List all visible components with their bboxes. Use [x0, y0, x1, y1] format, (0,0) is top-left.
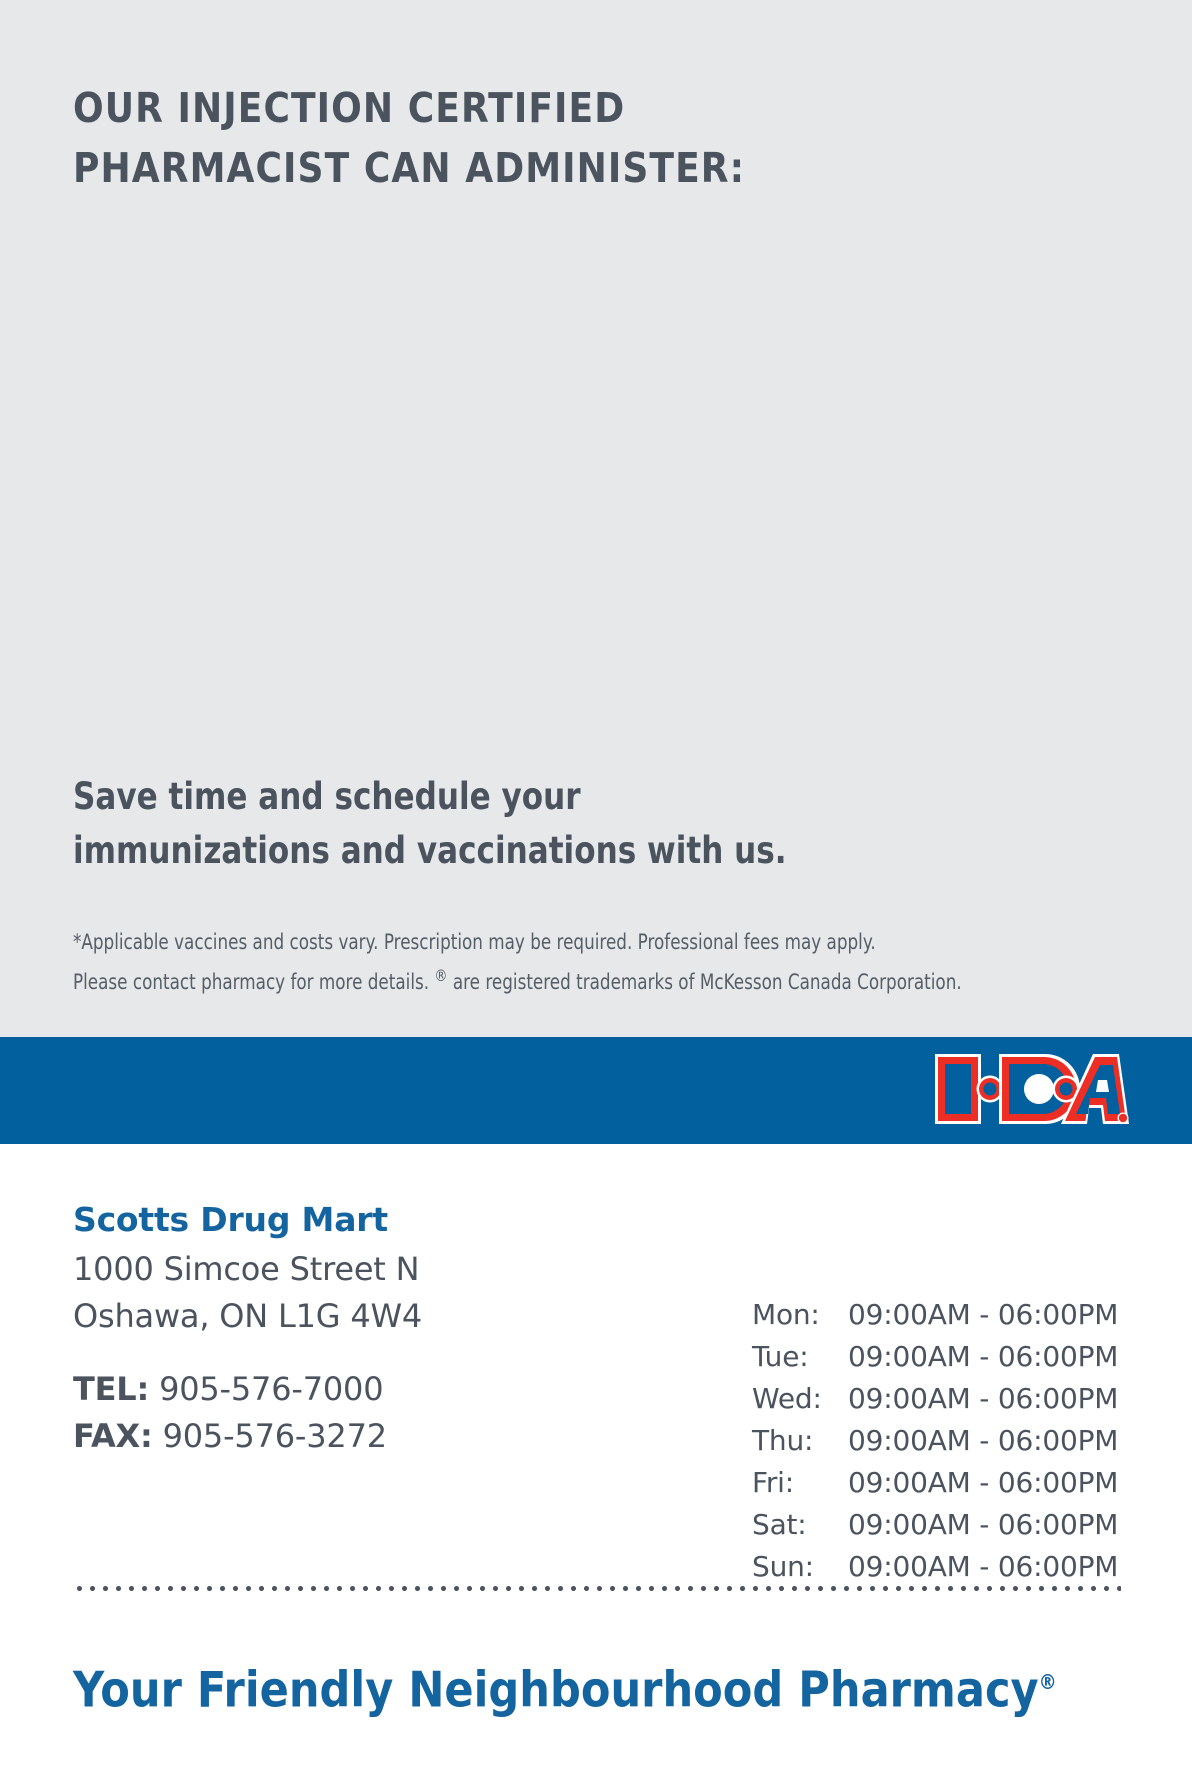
hours-row: Sun: 09:00AM - 06:00PM	[752, 1546, 1142, 1588]
store-telephone-label: TEL:	[73, 1370, 149, 1408]
hours-time-value: 09:00AM - 06:00PM	[848, 1336, 1142, 1378]
hours-day-label: Fri:	[752, 1462, 848, 1504]
hours-row: Thu: 09:00AM - 06:00PM	[752, 1420, 1142, 1462]
hours-day-label: Sat:	[752, 1504, 848, 1546]
hours-row: Tue: 09:00AM - 06:00PM	[752, 1336, 1142, 1378]
footer-tagline: Your Friendly Neighbourhood Pharmacy®	[73, 1647, 1023, 1725]
store-hours-table: Mon: 09:00AM - 06:00PM Tue: 09:00AM - 06…	[752, 1294, 1142, 1588]
hours-time-value: 09:00AM - 06:00PM	[848, 1294, 1142, 1336]
page-title-line-2: PHARMACIST CAN ADMINISTER:	[73, 138, 865, 198]
top-grey-panel: OUR INJECTION CERTIFIED PHARMACIST CAN A…	[0, 0, 1192, 1037]
hours-time-value: 09:00AM - 06:00PM	[848, 1462, 1142, 1504]
hours-time-value: 09:00AM - 06:00PM	[848, 1378, 1142, 1420]
store-fax-row: FAX: 905-576-3272	[73, 1413, 633, 1460]
disclaimer-line-2-part-a: Please contact pharmacy for more details…	[73, 970, 434, 994]
registered-mark-symbol: ®	[1039, 1670, 1057, 1694]
subheading-line-2: immunizations and vaccinations with us.	[73, 824, 829, 878]
store-details: Scotts Drug Mart 1000 Simcoe Street N Os…	[73, 1198, 633, 1460]
hours-day-label: Mon:	[752, 1294, 848, 1336]
page-title-line-1: OUR INJECTION CERTIFIED	[73, 78, 865, 138]
hours-time-value: 09:00AM - 06:00PM	[848, 1546, 1142, 1588]
store-contact: TEL: 905-576-7000 FAX: 905-576-3272	[73, 1366, 633, 1460]
footer-tagline-text: Your Friendly Neighbourhood Pharmacy	[73, 1661, 1039, 1718]
dotted-divider	[73, 1585, 1121, 1592]
store-fax-value: 905-576-3272	[163, 1417, 387, 1455]
subheading: Save time and schedule your immunization…	[73, 770, 829, 878]
store-address-line-1: 1000 Simcoe Street N	[73, 1246, 633, 1293]
hours-row: Wed: 09:00AM - 06:00PM	[752, 1378, 1142, 1420]
disclaimer-line-2-part-b: are registered trademarks of McKesson Ca…	[448, 970, 962, 994]
hours-time-value: 09:00AM - 06:00PM	[848, 1420, 1142, 1462]
store-address-line-2: Oshawa, ON L1G 4W4	[73, 1293, 633, 1340]
page-title: OUR INJECTION CERTIFIED PHARMACIST CAN A…	[73, 78, 865, 198]
ida-logo	[933, 1050, 1129, 1128]
disclaimer-line-1: *Applicable vaccines and costs vary. Pre…	[73, 925, 921, 959]
subheading-line-1: Save time and schedule your	[73, 770, 829, 824]
registered-mark-symbol: ®	[434, 966, 447, 985]
hours-day-label: Thu:	[752, 1420, 848, 1462]
disclaimer-text: *Applicable vaccines and costs vary. Pre…	[73, 925, 921, 999]
store-address: 1000 Simcoe Street N Oshawa, ON L1G 4W4	[73, 1246, 633, 1340]
pharmacy-flyer-page: OUR INJECTION CERTIFIED PHARMACIST CAN A…	[0, 0, 1192, 1785]
store-telephone-row: TEL: 905-576-7000	[73, 1366, 633, 1413]
store-name: Scotts Drug Mart	[73, 1198, 633, 1242]
store-telephone-value[interactable]: 905-576-7000	[159, 1370, 383, 1408]
hours-time-value: 09:00AM - 06:00PM	[848, 1504, 1142, 1546]
store-fax-label: FAX:	[73, 1417, 153, 1455]
hours-day-label: Wed:	[752, 1378, 848, 1420]
disclaimer-line-2: Please contact pharmacy for more details…	[73, 959, 921, 999]
hours-row: Mon: 09:00AM - 06:00PM	[752, 1294, 1142, 1336]
hours-day-label: Tue:	[752, 1336, 848, 1378]
hours-row: Sat: 09:00AM - 06:00PM	[752, 1504, 1142, 1546]
hours-row: Fri: 09:00AM - 06:00PM	[752, 1462, 1142, 1504]
hours-day-label: Sun:	[752, 1546, 848, 1588]
